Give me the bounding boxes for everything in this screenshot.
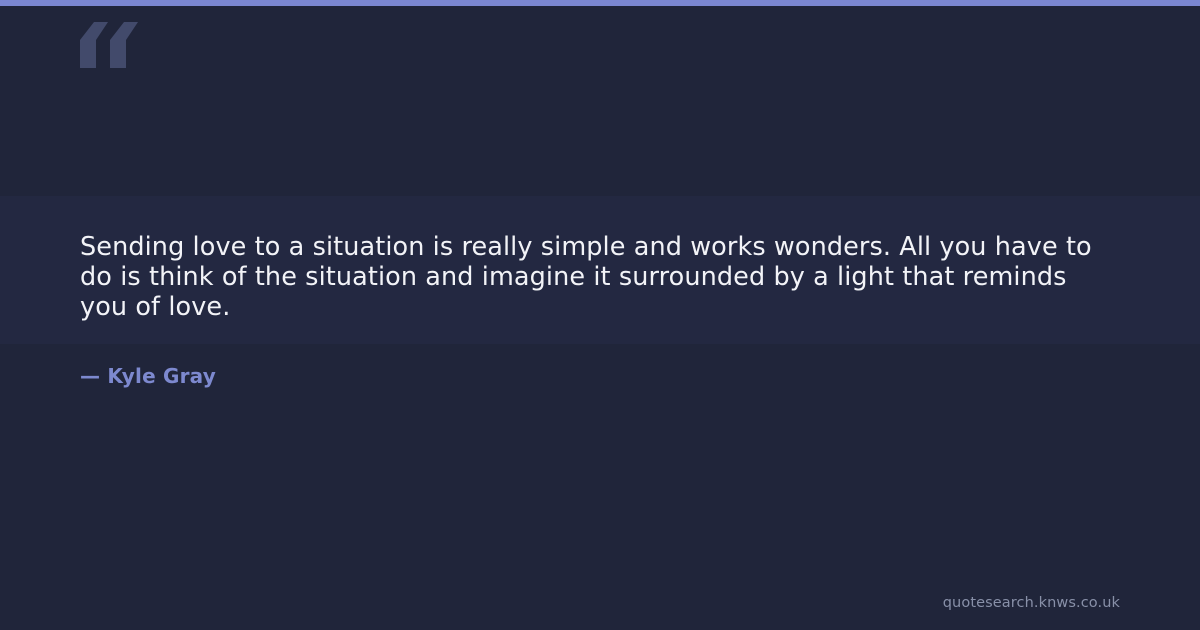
- source-site-label: quotesearch.knws.co.uk: [943, 594, 1120, 612]
- quote-author: — Kyle Gray: [80, 322, 1120, 388]
- top-accent-bar: [0, 0, 1200, 6]
- quote-card: Sending love to a situation is really si…: [0, 0, 1200, 630]
- double-quote-icon: [80, 22, 170, 92]
- quote-content: Sending love to a situation is really si…: [80, 232, 1120, 388]
- quote-text: Sending love to a situation is really si…: [80, 232, 1110, 322]
